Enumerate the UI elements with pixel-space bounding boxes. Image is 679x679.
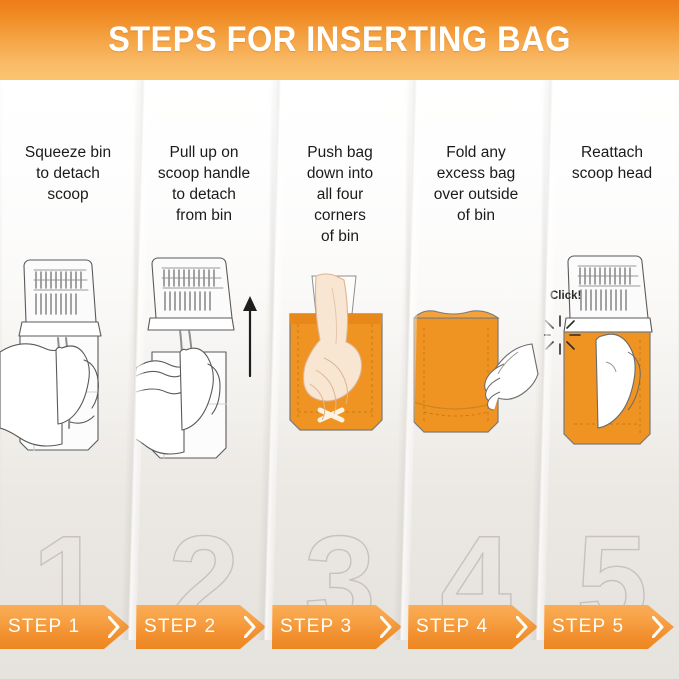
chevron-right-icon xyxy=(380,616,392,638)
step-column-4: Fold any excess bag over outside of bin xyxy=(408,80,544,679)
caption-line: corners xyxy=(276,205,404,226)
caption-line: Reattach xyxy=(548,142,676,163)
caption-line: Fold any xyxy=(412,142,540,163)
steps-columns: Squeeze bin to detach scoop xyxy=(0,80,679,679)
chevron-right-icon xyxy=(652,616,664,638)
step-banner-2[interactable]: STEP 2 xyxy=(136,605,266,649)
caption-line: down into xyxy=(276,163,404,184)
step-banner-label: STEP 1 xyxy=(8,605,80,649)
caption-line: of bin xyxy=(412,205,540,226)
step-banner-3[interactable]: STEP 3 xyxy=(272,605,402,649)
step-banner-label: STEP 3 xyxy=(280,605,352,649)
caption-line: to detach xyxy=(4,163,132,184)
step-caption-2: Pull up on scoop handle to detach from b… xyxy=(140,142,268,226)
caption-line: all four xyxy=(276,184,404,205)
step-illustration-2 xyxy=(136,252,272,482)
caption-line: scoop handle xyxy=(140,163,268,184)
step-caption-4: Fold any excess bag over outside of bin xyxy=(412,142,540,226)
caption-line: excess bag xyxy=(412,163,540,184)
step-illustration-5: Click! xyxy=(544,252,679,482)
caption-line: of bin xyxy=(276,226,404,247)
click-annotation: Click! xyxy=(550,290,581,302)
caption-line: Push bag xyxy=(276,142,404,163)
step-caption-5: Reattach scoop head xyxy=(548,142,676,184)
step-illustration-1 xyxy=(0,252,136,482)
caption-line: from bin xyxy=(140,205,268,226)
step-column-1: Squeeze bin to detach scoop xyxy=(0,80,136,679)
step-banner-4[interactable]: STEP 4 xyxy=(408,605,538,649)
caption-line: Pull up on xyxy=(140,142,268,163)
step-banner-5[interactable]: STEP 5 xyxy=(544,605,674,649)
step-banner-label: STEP 5 xyxy=(552,605,624,649)
caption-line: over outside xyxy=(412,184,540,205)
instruction-poster: STEPS FOR INSERTING BAG Squeeze bin to d… xyxy=(0,0,679,679)
step-column-5: Reattach scoop head xyxy=(544,80,679,679)
poster-header: STEPS FOR INSERTING BAG xyxy=(0,0,679,80)
caption-line: scoop xyxy=(4,184,132,205)
caption-line: Squeeze bin xyxy=(4,142,132,163)
page-title: STEPS FOR INSERTING BAG xyxy=(24,0,655,80)
chevron-right-icon xyxy=(108,616,120,638)
step-banner-label: STEP 2 xyxy=(144,605,216,649)
steps-board: Squeeze bin to detach scoop xyxy=(0,80,679,679)
chevron-right-icon xyxy=(516,616,528,638)
caption-line: scoop head xyxy=(548,163,676,184)
step-banner-label: STEP 4 xyxy=(416,605,488,649)
step-illustration-3 xyxy=(272,252,408,482)
step-column-2: Pull up on scoop handle to detach from b… xyxy=(136,80,272,679)
step-caption-1: Squeeze bin to detach scoop xyxy=(4,142,132,205)
step-illustration-4 xyxy=(408,252,544,482)
chevron-right-icon xyxy=(244,616,256,638)
step-column-3: Push bag down into all four corners of b… xyxy=(272,80,408,679)
step-caption-3: Push bag down into all four corners of b… xyxy=(276,142,404,247)
caption-line: to detach xyxy=(140,184,268,205)
step-banner-1[interactable]: STEP 1 xyxy=(0,605,130,649)
